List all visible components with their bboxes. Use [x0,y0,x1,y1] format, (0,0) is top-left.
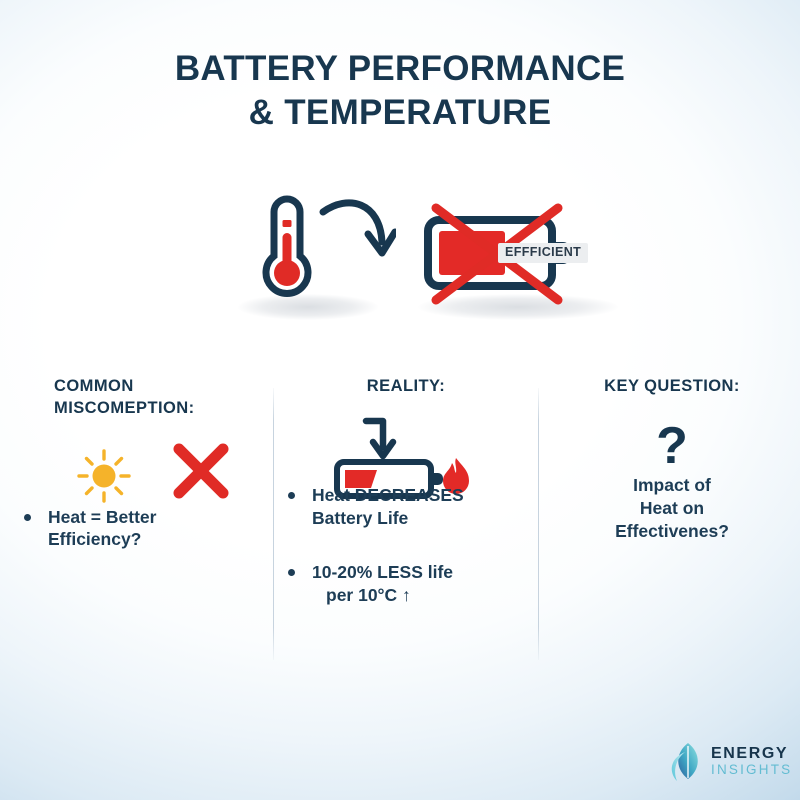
list-item: Heat = Better Efficiency? [18,506,266,552]
infographic-canvas: BATTERY PERFORMANCE & TEMPERATURE [0,0,800,800]
list-item: Heat DECREASES Battery Life [282,484,530,530]
sun-icon [76,448,132,504]
bullet-line-1: Heat DECREASES [312,484,530,507]
column-heading-key-question: KEY QUESTION: [548,376,796,398]
bullet-line-1: Heat = Better [48,506,266,529]
bullet-line-1: 10-20% LESS life [312,561,530,584]
thermometer-icon [256,192,318,300]
key-question-line-1: Impact of [548,474,796,497]
title-line-1: BATTERY PERFORMANCE [0,47,800,91]
reality-icons [282,398,530,484]
question-mark-icon: ? [548,420,796,472]
reality-bullets: Heat DECREASES Battery Life 10-20% LESS … [282,484,530,607]
curved-arrow-icon [318,196,396,272]
column-divider-1 [273,388,274,660]
bullet-dot [288,492,295,499]
page-title: BATTERY PERFORMANCE & TEMPERATURE [0,47,800,135]
key-question-icons: ? [548,398,796,474]
logo-name: ENERGY [711,745,792,762]
column-heading-misconception: COMMON MISCOMEPTION: [18,376,266,420]
logo-sub: INSIGHTS [711,762,792,777]
title-line-2: & TEMPERATURE [0,91,800,135]
red-cross-icon [170,440,232,502]
brand-logo: ENERGY INSIGHTS [668,740,792,782]
columns-section: COMMON MISCOMEPTION: [0,376,800,676]
bullet-line-2: Efficiency? [48,528,266,551]
bullet-dot [24,514,31,521]
bullet-line-2: Battery Life [312,507,530,530]
efficient-tag: EFFFICIENT [498,243,588,263]
column-common-misconception: COMMON MISCOMEPTION: [18,376,266,571]
key-question-line-3: Effectivenes? [548,520,796,543]
misconception-icons [18,420,266,506]
column-reality: REALITY: [282,376,530,627]
column-key-question: KEY QUESTION: ? Impact of Heat on Effect… [548,376,796,544]
column-heading-reality: REALITY: [282,376,530,398]
logo-text: ENERGY INSIGHTS [711,745,792,777]
list-item: 10-20% LESS life per 10°C ↑ [282,561,530,607]
misconception-bullets: Heat = Better Efficiency? [18,506,266,552]
bullet-line-2: per 10°C ↑ [312,584,530,607]
hero-illustration [0,186,800,336]
column-divider-2 [538,388,539,660]
heading-line-1: COMMON [54,376,266,398]
key-question-text: Impact of Heat on Effectivenes? [548,474,796,544]
leaf-icon [668,740,704,782]
key-question-line-2: Heat on [548,497,796,520]
heading-line-2: MISCOMEPTION: [54,398,266,420]
bullet-dot [288,569,295,576]
